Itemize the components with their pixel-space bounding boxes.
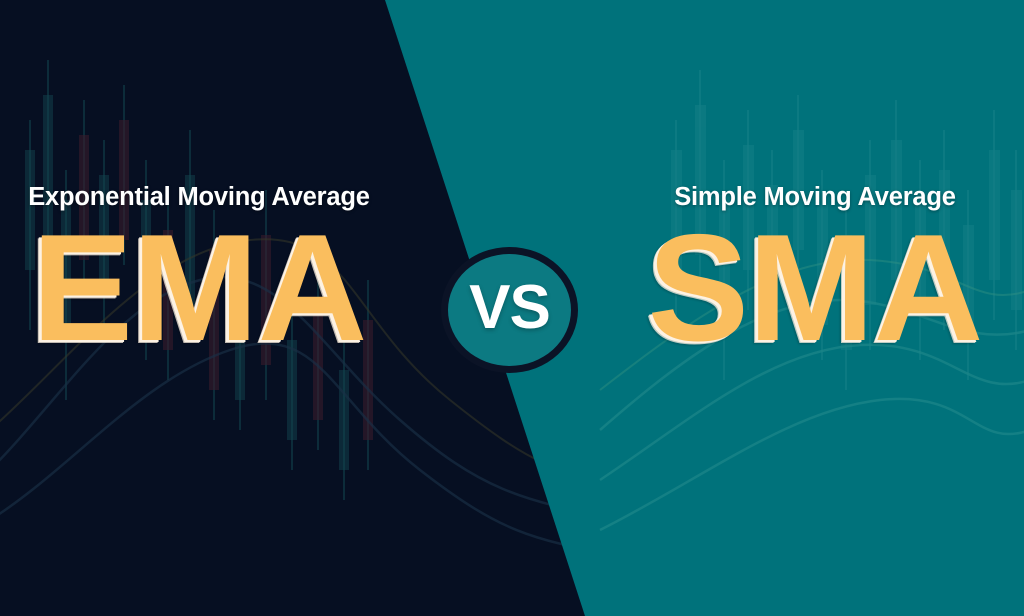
ema-acronym: EMA xyxy=(32,211,367,348)
sma-column: Simple Moving Average SMA xyxy=(620,185,1010,385)
ema-vs-sma-banner: Exponential Moving Average EMA Simple Mo… xyxy=(0,0,1024,616)
vs-badge: VS xyxy=(441,247,578,373)
sma-acronym: SMA xyxy=(648,211,983,348)
ema-column: Exponential Moving Average EMA xyxy=(0,185,398,385)
vs-badge-label: VS xyxy=(469,277,550,339)
